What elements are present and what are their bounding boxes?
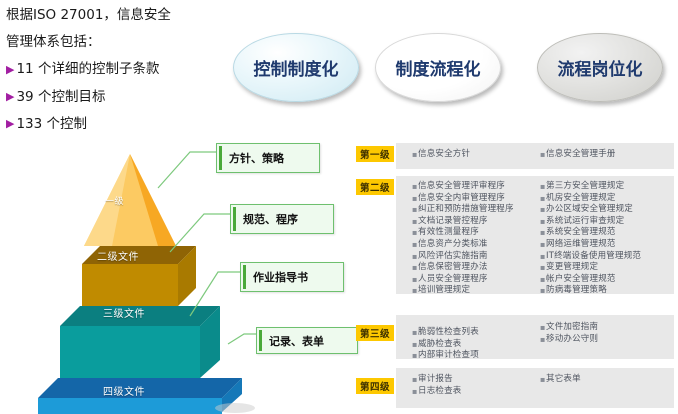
ellipse-control-systemization: 控制制度化 — [233, 33, 359, 102]
intro-bullet-label: 39 个控制目标 — [16, 90, 105, 104]
document-list-item-label: 网络运维管理规范 — [546, 239, 616, 251]
document-list-item: ▪系统试运行审查规定 — [540, 216, 641, 228]
document-list-item-label: 脆弱性检查列表 — [418, 327, 479, 339]
document-list-item: ▪威胁检查表 — [412, 339, 479, 351]
doc-list-level-2-col-2: ▪第三方安全管理规定▪机房安全管理规定▪办公区域安全管理规定▪系统试运行审查规定… — [540, 181, 641, 297]
document-list-item: ▪信息保密管理办法 — [412, 262, 514, 274]
document-list-item-label: 系统试运行审查规定 — [546, 216, 624, 228]
document-list-item-label: 审计报告 — [418, 374, 453, 386]
triangle-bullet-icon: ▶ — [6, 118, 14, 129]
document-list-item-label: 威胁检查表 — [418, 339, 462, 351]
document-list-item: ▪风险评估实施指南 — [412, 251, 514, 263]
document-list-item-label: 文件加密指南 — [546, 322, 598, 334]
document-list-item-label: 信息安全内审管理程序 — [418, 193, 505, 205]
document-list-item-label: 日志检查表 — [418, 386, 462, 398]
document-list-item: ▪文档记录管控程序 — [412, 216, 514, 228]
document-list-item: ▪人员安全管理程序 — [412, 274, 514, 286]
document-list-item-label: 信息安全方针 — [418, 149, 470, 161]
callout-label: 规范、程序 — [236, 211, 298, 227]
callout-record-form: 记录、表单 — [256, 327, 358, 354]
badge-level-1: 第一级 — [356, 146, 394, 162]
document-list-item: ▪信息资产分类标准 — [412, 239, 514, 251]
callout-standard-procedure: 规范、程序 — [230, 204, 334, 234]
document-list-item-label: 变更管理规定 — [546, 262, 598, 274]
document-list-item-label: 信息资产分类标准 — [418, 239, 488, 251]
document-list-item: ▪系统安全管理规范 — [540, 227, 641, 239]
document-list-item-label: 文档记录管控程序 — [418, 216, 488, 228]
document-list-item: ▪信息安全方针 — [412, 149, 470, 161]
document-list-item-label: 有效性测量程序 — [418, 227, 479, 239]
document-list-item: ▪脆弱性检查列表 — [412, 327, 479, 339]
ellipse-label: 流程岗位化 — [558, 55, 643, 80]
document-list-item: ▪办公区域安全管理规定 — [540, 204, 641, 216]
intro-bullet: ▶ 133 个控制 — [6, 117, 221, 131]
document-list-item: ▪信息安全管理手册 — [540, 149, 616, 161]
document-list-item: ▪有效性测量程序 — [412, 227, 514, 239]
doc-list-level-4-col-1: ▪审计报告▪日志检查表 — [412, 374, 462, 397]
document-list-item: ▪网络运维管理规范 — [540, 239, 641, 251]
callout-label: 记录、表单 — [262, 333, 324, 349]
callout-policy-strategy: 方针、策略 — [216, 143, 320, 173]
ellipse-label: 控制制度化 — [254, 55, 339, 80]
document-list-item-label: 防病毒管理策略 — [546, 285, 607, 297]
pyramid-level-4 — [38, 378, 242, 414]
document-list-item-label: 纠正和预防措施管理程序 — [418, 204, 514, 216]
document-list-item-label: 人员安全管理程序 — [418, 274, 488, 286]
intro-line: 管理体系包括： — [6, 35, 221, 49]
document-list-item: ▪防病毒管理策略 — [540, 285, 641, 297]
callout-work-instruction: 作业指导书 — [240, 262, 344, 292]
badge-level-2: 第二级 — [356, 179, 394, 195]
intro-text-block: 根据ISO 27001，信息安全 管理体系包括： ▶ 11 个详细的控制子条款 … — [6, 8, 221, 144]
document-list-item-label: 帐户安全管理规范 — [546, 274, 616, 286]
callout-label: 作业指导书 — [246, 269, 308, 285]
document-list-item: ▪信息安全管理评审程序 — [412, 181, 514, 193]
doc-list-level-3-col-2: ▪文件加密指南▪移动办公守则 — [540, 322, 598, 345]
document-list-item-label: 移动办公守则 — [546, 334, 598, 346]
intro-bullet-label: 11 个详细的控制子条款 — [16, 62, 159, 76]
document-list-item-label: 风险评估实施指南 — [418, 251, 488, 263]
document-list-item: ▪内部审计检查项 — [412, 350, 479, 362]
document-list-item: ▪纠正和预防措施管理程序 — [412, 204, 514, 216]
document-list-item: ▪移动办公守则 — [540, 334, 598, 346]
document-list-item-label: 信息安全管理评审程序 — [418, 181, 505, 193]
document-list-item-label: 机房安全管理规定 — [546, 193, 616, 205]
intro-bullet: ▶ 11 个详细的控制子条款 — [6, 62, 221, 76]
badge-level-4: 第四级 — [356, 378, 394, 394]
intro-line: 根据ISO 27001，信息安全 — [6, 8, 221, 22]
doc-list-level-1-col-1: ▪信息安全方针 — [412, 149, 470, 161]
document-list-item: ▪变更管理规定 — [540, 262, 641, 274]
document-list-item-label: 信息保密管理办法 — [418, 262, 488, 274]
document-list-item: ▪其它表单 — [540, 374, 581, 386]
document-list-item: ▪机房安全管理规定 — [540, 193, 641, 205]
document-list-item-label: 内部审计检查项 — [418, 350, 479, 362]
document-list-item-label: 信息安全管理手册 — [546, 149, 616, 161]
document-list-item: ▪第三方安全管理规定 — [540, 181, 641, 193]
document-list-item: ▪信息安全内审管理程序 — [412, 193, 514, 205]
intro-bullet-label: 133 个控制 — [16, 117, 87, 131]
document-list-item-label: IT终端设备使用管理规范 — [546, 251, 641, 263]
document-list-item: ▪IT终端设备使用管理规范 — [540, 251, 641, 263]
slide-canvas: 根据ISO 27001，信息安全 管理体系包括： ▶ 11 个详细的控制子条款 … — [0, 0, 678, 414]
document-list-item-label: 办公区域安全管理规定 — [546, 204, 633, 216]
doc-list-level-3-col-1: ▪脆弱性检查列表▪威胁检查表▪内部审计检查项 — [412, 327, 479, 362]
intro-bullet: ▶ 39 个控制目标 — [6, 90, 221, 104]
document-list-item-label: 培训管理规定 — [418, 285, 470, 297]
doc-list-level-1-col-2: ▪信息安全管理手册 — [540, 149, 616, 161]
callout-label: 方针、策略 — [222, 150, 284, 166]
document-list-item: ▪帐户安全管理规范 — [540, 274, 641, 286]
triangle-bullet-icon: ▶ — [6, 91, 14, 102]
document-list-item-label: 其它表单 — [546, 374, 581, 386]
ellipse-system-processization: 制度流程化 — [375, 33, 501, 102]
document-list-item: ▪日志检查表 — [412, 386, 462, 398]
ellipse-label: 制度流程化 — [396, 55, 481, 80]
document-list-item: ▪文件加密指南 — [540, 322, 598, 334]
document-list-item: ▪审计报告 — [412, 374, 462, 386]
document-list-item-label: 系统安全管理规范 — [546, 227, 616, 239]
document-list-item-label: 第三方安全管理规定 — [546, 181, 624, 193]
triangle-bullet-icon: ▶ — [6, 64, 14, 75]
doc-list-level-2-col-1: ▪信息安全管理评审程序▪信息安全内审管理程序▪纠正和预防措施管理程序▪文档记录管… — [412, 181, 514, 297]
document-list-item: ▪培训管理规定 — [412, 285, 514, 297]
doc-list-level-4-col-2: ▪其它表单 — [540, 374, 581, 386]
ellipse-process-positionization: 流程岗位化 — [537, 33, 663, 102]
badge-level-3: 第三级 — [356, 325, 394, 341]
